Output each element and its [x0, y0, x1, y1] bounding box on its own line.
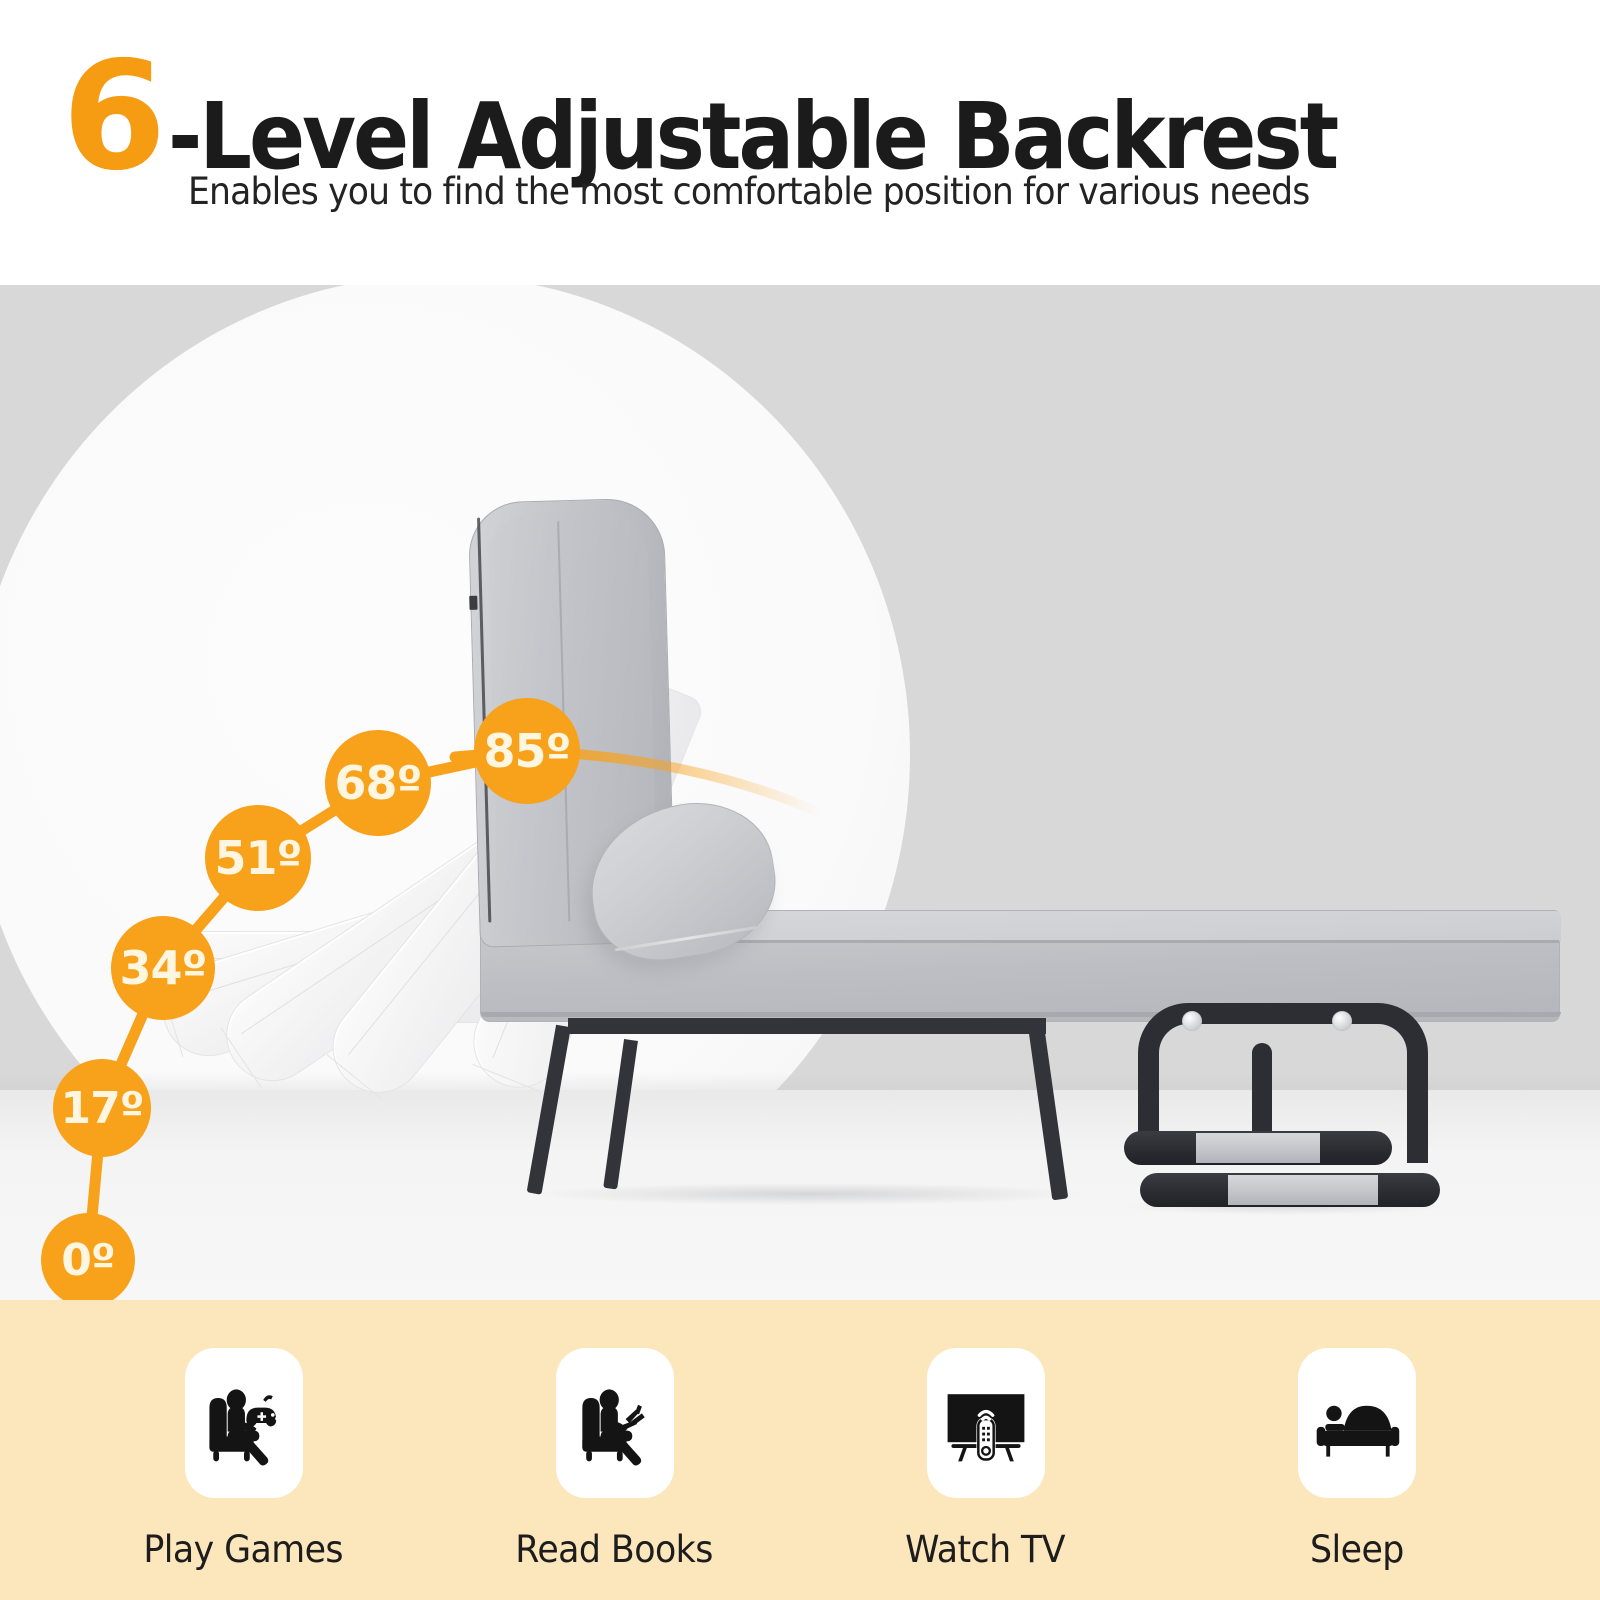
use-case-label: Read Books — [516, 1528, 713, 1571]
use-case-sleep[interactable]: Sleep — [1207, 1300, 1507, 1571]
watch-tv-tile[interactable] — [927, 1348, 1045, 1498]
person-in-recliner-reading-book-icon — [567, 1375, 663, 1471]
page-subtitle: Enables you to find the most comfortable… — [188, 170, 1309, 213]
angle-badge-68-label: 68º — [335, 756, 422, 810]
angle-badge-34-label: 34º — [120, 941, 207, 995]
angle-badge-17: 17º — [53, 1059, 151, 1157]
angle-badge-68: 68º — [325, 730, 431, 836]
use-case-band: Play Games — [0, 1300, 1600, 1600]
header-band: 6 -Level Adjustable Backrest Enables you… — [0, 0, 1600, 285]
read-books-tile[interactable] — [556, 1348, 674, 1498]
angle-badge-85: 85º — [474, 698, 580, 804]
use-case-play-games[interactable]: Play Games — [94, 1300, 394, 1571]
person-sleeping-on-sofa-icon — [1309, 1375, 1405, 1471]
person-in-recliner-with-gamepad-icon — [196, 1375, 292, 1471]
television-with-remote-icon — [938, 1375, 1034, 1471]
level-count-number: 6 — [62, 48, 162, 186]
page-title: 6 -Level Adjustable Backrest — [62, 48, 1466, 186]
angle-badge-0-label: 0º — [61, 1235, 114, 1286]
use-case-label: Watch TV — [906, 1528, 1066, 1571]
angle-badge-0: 0º — [41, 1213, 135, 1300]
use-case-watch-tv[interactable]: Watch TV — [836, 1300, 1136, 1571]
angle-badge-51: 51º — [205, 805, 311, 911]
play-games-tile[interactable] — [185, 1348, 303, 1498]
use-case-read-books[interactable]: Read Books — [465, 1300, 765, 1571]
use-case-label: Sleep — [1310, 1528, 1404, 1571]
angle-badge-17-label: 17º — [60, 1083, 143, 1134]
infographic-page: 6 -Level Adjustable Backrest Enables you… — [0, 0, 1600, 1600]
sleep-tile[interactable] — [1298, 1348, 1416, 1498]
product-stage: 0º 17º 34º 51º 68º 85º — [0, 285, 1600, 1300]
use-case-list: Play Games — [0, 1300, 1600, 1600]
use-case-label: Play Games — [144, 1528, 344, 1571]
angle-badge-85-label: 85º — [484, 724, 571, 778]
angle-path — [0, 285, 1600, 1300]
angle-badge-34: 34º — [111, 916, 215, 1020]
angle-badge-51-label: 51º — [215, 831, 302, 885]
